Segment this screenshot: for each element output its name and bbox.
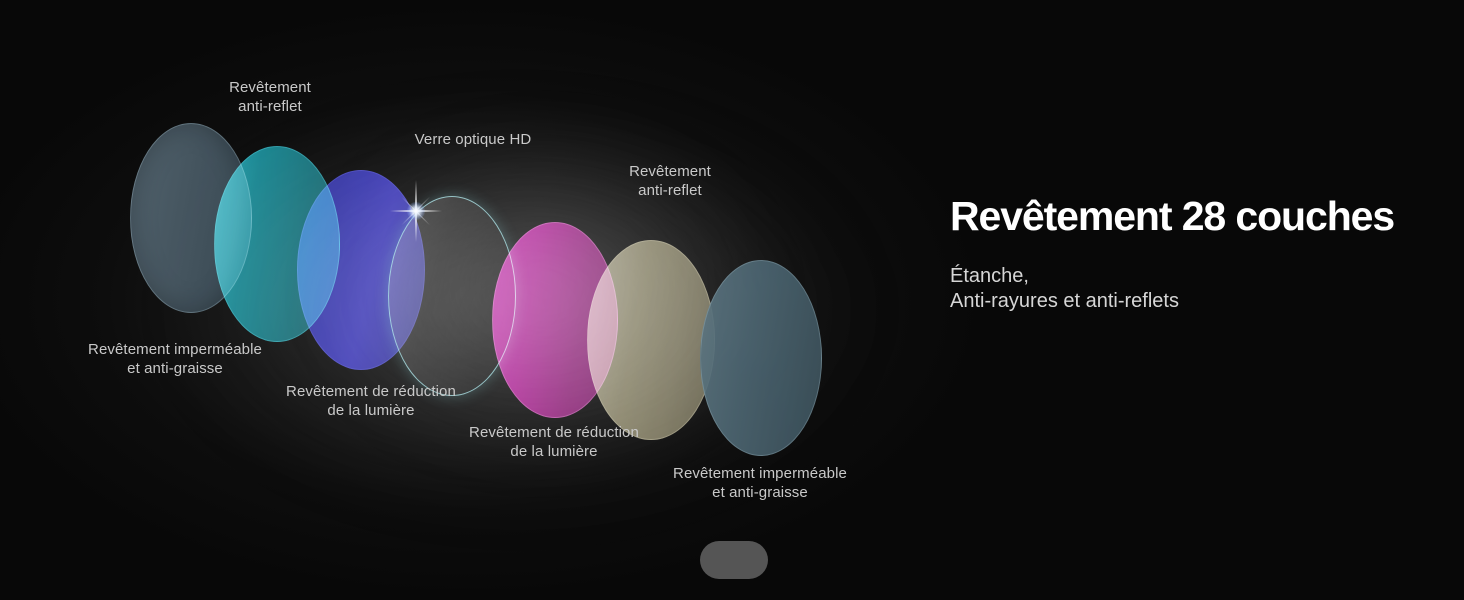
- page-subtitle: Étanche, Anti-rayures et anti-reflets: [950, 264, 1420, 314]
- label-anti-reflective-back: Revêtement anti-reflet: [572, 162, 768, 200]
- label-waterproof-oleophobic-front: Revêtement imperméable et anti-graisse: [52, 340, 298, 378]
- lens-anti-reflective-back: [587, 240, 715, 440]
- label-hd-optical-glass: Verre optique HD: [375, 130, 571, 149]
- lens-coating-promo-slide: Revêtement anti-reflet Verre optique HD …: [0, 0, 1464, 600]
- lens-waterproof-oleophobic-back: [700, 260, 822, 456]
- label-waterproof-oleophobic-back: Revêtement imperméable et anti-graisse: [637, 464, 883, 502]
- page-title: Revêtement 28 couches: [950, 192, 1420, 240]
- label-light-reduction-front: Revêtement de réduction de la lumière: [248, 382, 494, 420]
- copy-block: Revêtement 28 couches Étanche, Anti-rayu…: [950, 192, 1420, 314]
- label-anti-reflective-front: Revêtement anti-reflet: [172, 78, 368, 116]
- pagination-pill-button[interactable]: [700, 541, 768, 579]
- label-light-reduction-back: Revêtement de réduction de la lumière: [431, 423, 677, 461]
